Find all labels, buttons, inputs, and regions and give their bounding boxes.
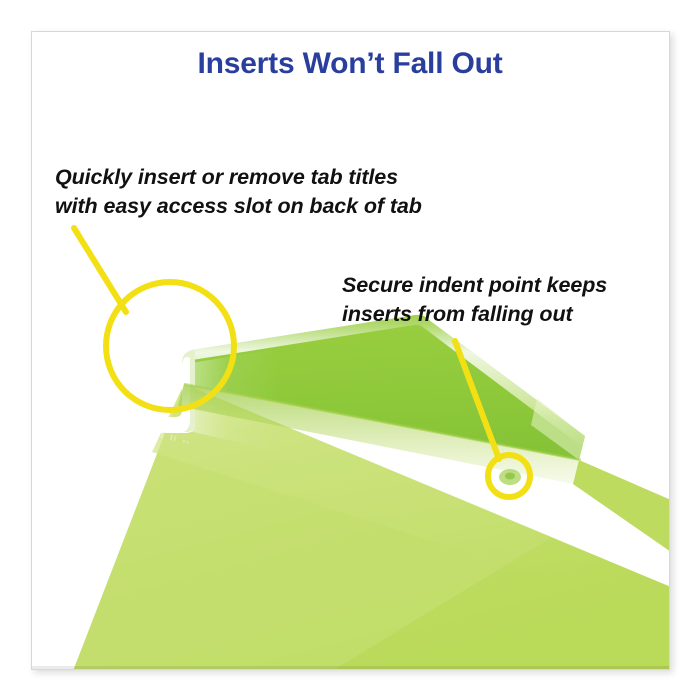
page-title: Inserts Won’t Fall Out — [0, 46, 700, 81]
callout-access-slot-line1: Quickly insert or remove tab titles — [55, 163, 422, 192]
callout-secure-indent-line1: Secure indent point keeps — [342, 271, 607, 300]
callout-secure-indent-line2: inserts from falling out — [342, 300, 607, 329]
card-bottom-edge — [32, 666, 670, 669]
product-photograph — [32, 32, 670, 670]
callout-access-slot-line2: with easy access slot on back of tab — [55, 192, 422, 221]
callout-access-slot: Quickly insert or remove tab titles with… — [55, 163, 422, 221]
product-feature-image: Inserts Won’t Fall Out Quickly insert or… — [0, 0, 700, 700]
product-card — [31, 31, 670, 670]
callout-secure-indent: Secure indent point keeps inserts from f… — [342, 271, 607, 329]
